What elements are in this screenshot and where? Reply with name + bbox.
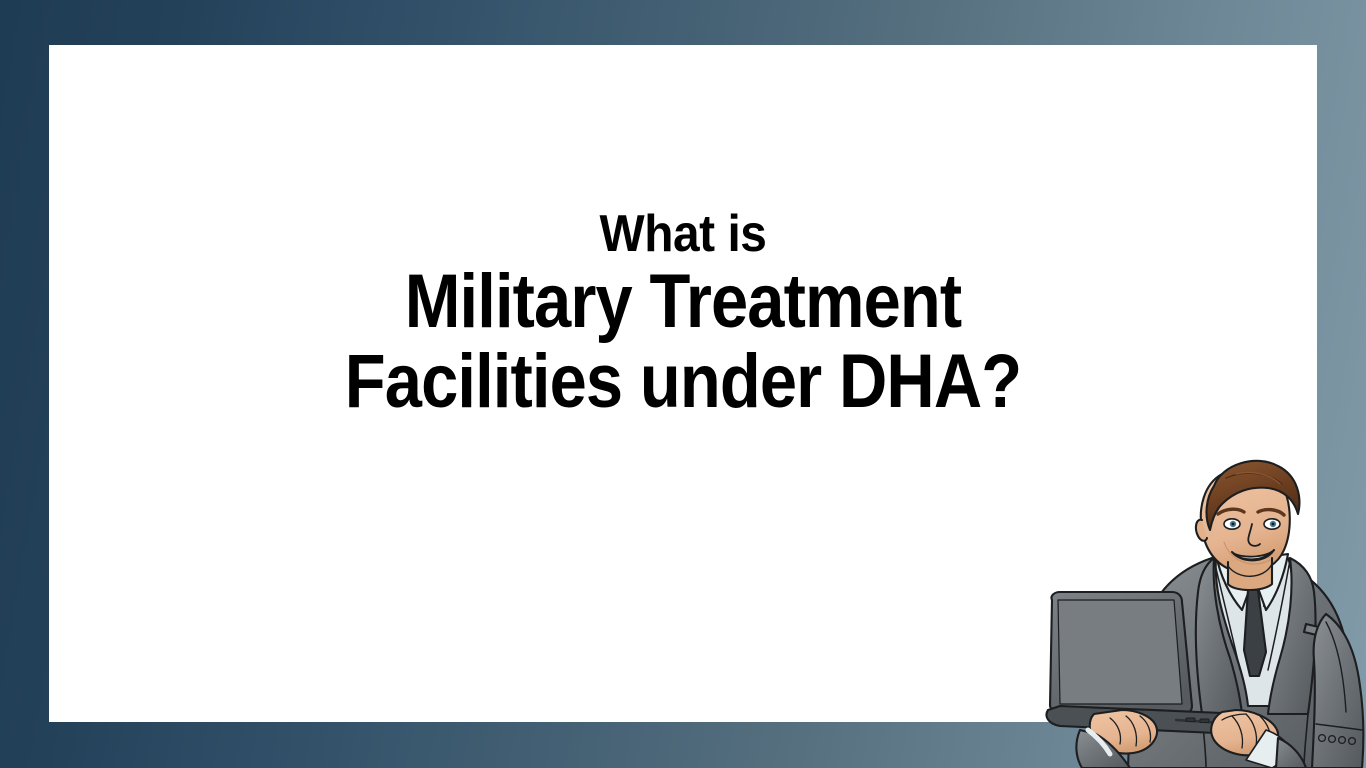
- title-line-1: Military Treatment: [91, 263, 1275, 341]
- title-eyebrow: What is: [64, 205, 1302, 263]
- sleeve-buttons: [1319, 735, 1356, 745]
- sleeve-left: [1076, 730, 1130, 768]
- arm-right: [1312, 614, 1363, 768]
- shirt-cuff-right: [1246, 730, 1294, 768]
- slide-canvas: What is Military Treatment Facilities un…: [0, 0, 1366, 768]
- title-line-2: Facilities under DHA?: [91, 343, 1275, 421]
- title-block: What is Military Treatment Facilities un…: [0, 205, 1366, 421]
